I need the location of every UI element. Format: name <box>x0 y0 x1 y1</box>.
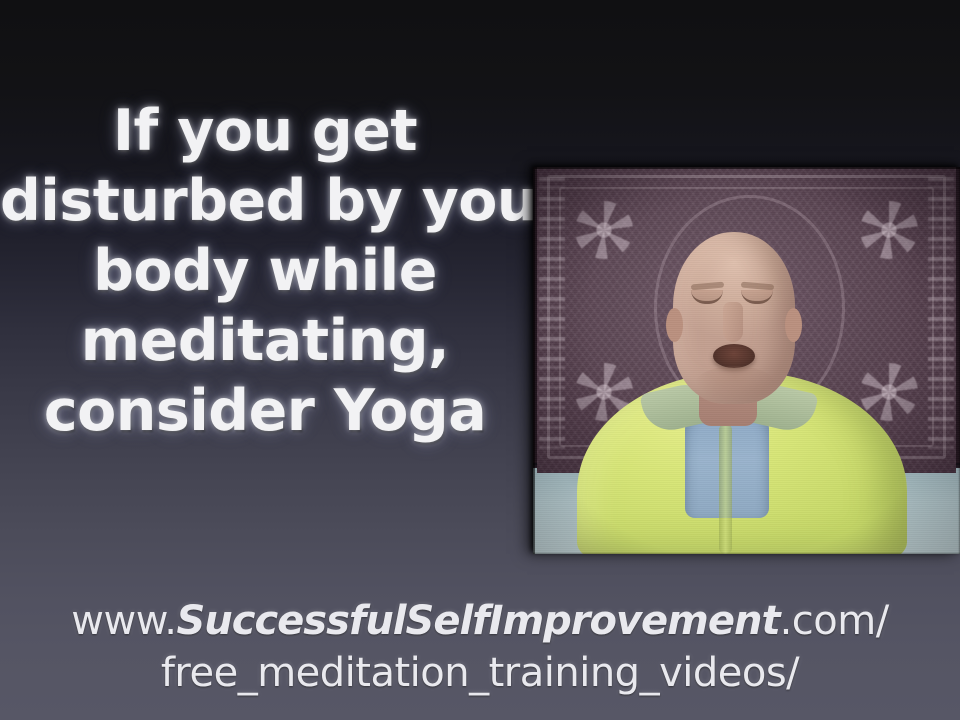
caption-line-1: If you get <box>0 96 530 166</box>
url-brand: SuccessfulSelfImprovement <box>176 598 779 644</box>
presenter-ear-right <box>785 308 802 342</box>
url-block: www.SuccessfulSelfImprovement.com/ free_… <box>0 596 960 700</box>
url-suffix: .com/ <box>780 598 889 644</box>
presenter-chin-shading <box>695 366 775 402</box>
presenter-ear-left <box>666 308 683 342</box>
presenter-pullover-placket <box>719 424 732 554</box>
caption-text-block: If you get disturbed by your body while … <box>0 96 530 446</box>
url-prefix: www. <box>71 598 176 644</box>
presenter-video-inset[interactable] <box>533 167 960 554</box>
caption-line-5: consider Yoga <box>0 376 530 446</box>
url-line-path[interactable]: free_meditation_training_videos/ <box>0 646 960 700</box>
presenter-nose <box>723 302 743 342</box>
caption-line-3: body while <box>0 236 530 306</box>
video-clip-area <box>533 167 960 554</box>
caption-line-2: disturbed by your <box>0 166 530 236</box>
caption-line-4: meditating, <box>0 306 530 376</box>
url-line-primary[interactable]: www.SuccessfulSelfImprovement.com/ <box>0 596 960 646</box>
video-frame: If you get disturbed by your body while … <box>0 0 960 720</box>
presenter-mouth-open <box>713 344 755 368</box>
presenter-figure <box>533 167 960 554</box>
